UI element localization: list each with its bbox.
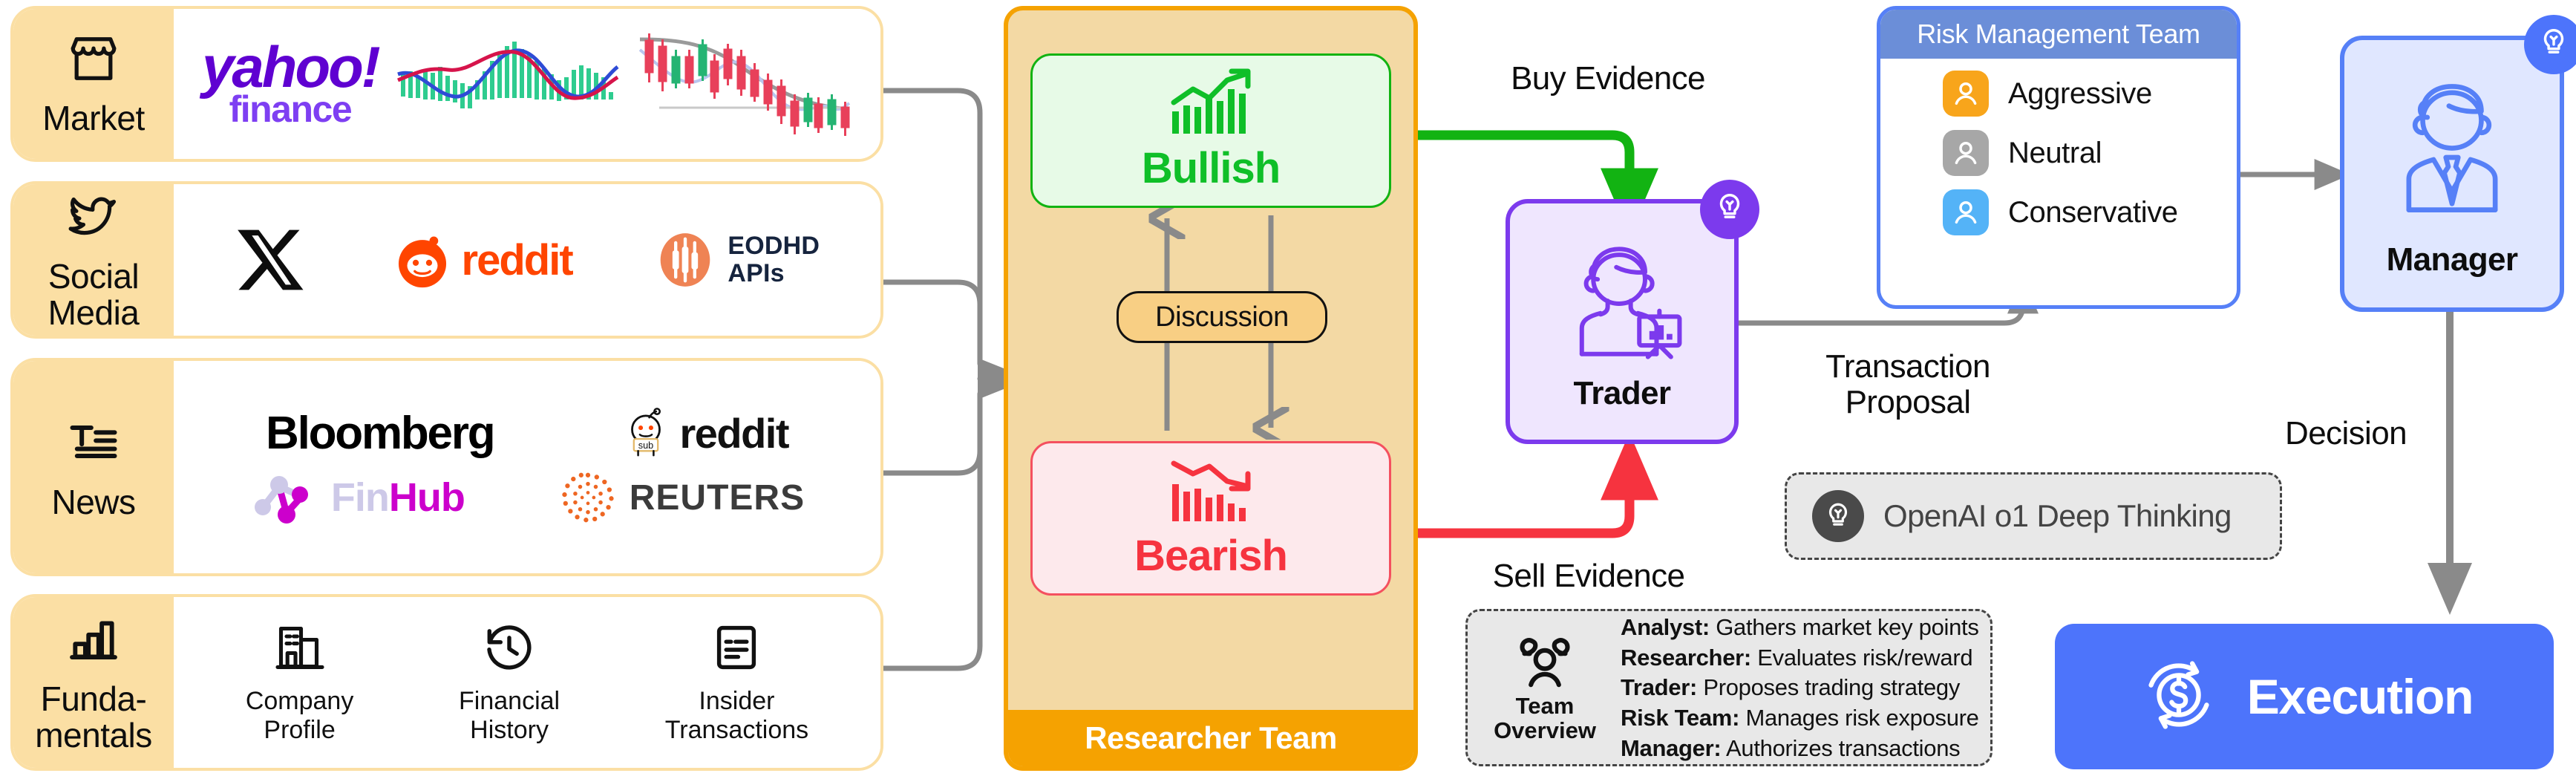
bearish-card[interactable]: Bearish bbox=[1030, 441, 1391, 596]
bloomberg-logo-text: Bloomberg bbox=[266, 407, 494, 460]
team-overview-desc: Manages risk exposure bbox=[1745, 705, 1978, 731]
source-label-news-text: News bbox=[51, 484, 135, 520]
buy-evidence-label: Buy Evidence bbox=[1445, 61, 1771, 97]
discussion-pill[interactable]: Discussion bbox=[1117, 291, 1327, 343]
source-row-social-media[interactable]: Social Media bbox=[10, 181, 883, 339]
source-label-market: Market bbox=[13, 9, 174, 159]
bullish-card[interactable]: Bullish bbox=[1030, 53, 1391, 208]
reddit-logo-text: reddit bbox=[462, 235, 572, 285]
manager-label: Manager bbox=[2387, 241, 2518, 278]
finhub-logo-text-hub: Hub bbox=[389, 475, 465, 520]
bloomberg-logo[interactable]: Bloomberg bbox=[266, 407, 494, 460]
bullish-label: Bullish bbox=[1142, 143, 1280, 193]
transaction-proposal-label: Transaction Proposal bbox=[1774, 349, 2041, 420]
researcher-team-footer: Researcher Team bbox=[1008, 710, 1413, 766]
team-overview-role: Researcher: bbox=[1621, 645, 1751, 671]
history-clock-icon bbox=[483, 621, 536, 678]
risk-member-aggressive[interactable]: Aggressive bbox=[1943, 71, 2237, 117]
candlestick-chart[interactable] bbox=[637, 25, 852, 143]
risk-member-aggressive-label: Aggressive bbox=[2008, 77, 2152, 111]
yahoo-finance-logo[interactable]: yahoo! finance bbox=[202, 43, 379, 125]
team-overview-role: Trader: bbox=[1621, 674, 1697, 700]
building-icon bbox=[273, 621, 327, 678]
finhub-logo[interactable]: FinHub bbox=[249, 467, 465, 528]
team-overview-row: Manager: Authorizes transactions bbox=[1621, 734, 1979, 763]
team-overview-desc: Gathers market key points bbox=[1716, 614, 1978, 640]
team-overview-desc: Authorizes transactions bbox=[1726, 735, 1960, 761]
financial-history-caption: Financial History bbox=[459, 687, 560, 743]
reuters-logo-text: REUTERS bbox=[630, 477, 805, 518]
yahoo-finance-logo-line2: finance bbox=[229, 94, 352, 125]
trending-up-bars-icon bbox=[1168, 68, 1254, 140]
document-icon bbox=[710, 621, 763, 678]
team-overview-row: Risk Team: Manages risk exposure bbox=[1621, 703, 1979, 733]
risk-member-neutral-label: Neutral bbox=[2008, 137, 2102, 170]
team-overview-role: Analyst: bbox=[1621, 614, 1710, 640]
execution-node[interactable]: Execution bbox=[2055, 624, 2554, 769]
subreddit-logo-text: reddit bbox=[679, 409, 788, 457]
researcher-team-panel[interactable]: Bullish Discussion bbox=[1004, 6, 1418, 771]
x-twitter-logo[interactable] bbox=[235, 223, 309, 297]
people-group-icon bbox=[1512, 633, 1578, 693]
lightbulb-icon bbox=[2537, 26, 2571, 64]
source-label-social-media: Social Media bbox=[13, 184, 174, 336]
team-overview-row: Trader: Proposes trading strategy bbox=[1621, 673, 1979, 702]
risk-management-team-title-bar: Risk Management Team bbox=[1880, 10, 2237, 59]
source-label-fundamentals-text: Funda- mentals bbox=[35, 681, 152, 753]
risk-member-conservative-label: Conservative bbox=[2008, 196, 2178, 229]
risk-member-neutral[interactable]: Neutral bbox=[1943, 130, 2237, 176]
manager-lightbulb-badge[interactable] bbox=[2524, 15, 2576, 74]
trending-down-bars-icon bbox=[1168, 456, 1254, 528]
dollar-refresh-icon bbox=[2136, 652, 2222, 742]
yahoo-finance-logo-line1: yahoo! bbox=[202, 43, 379, 92]
eodhd-apis-logo-line2: APIs bbox=[728, 260, 820, 287]
article-icon bbox=[65, 414, 122, 474]
trader-label: Trader bbox=[1574, 375, 1671, 412]
risk-management-team-box[interactable]: Risk Management Team Aggressive Neutral … bbox=[1877, 6, 2240, 309]
person-icon bbox=[1943, 71, 1989, 117]
lightbulb-icon bbox=[1812, 490, 1864, 542]
source-label-news: News bbox=[13, 361, 174, 573]
trader-node[interactable]: Trader bbox=[1506, 199, 1739, 444]
discussion-label: Discussion bbox=[1155, 301, 1289, 333]
openai-deep-thinking-badge[interactable]: OpenAI o1 Deep Thinking bbox=[1785, 472, 2282, 560]
team-overview-desc: Proposes trading strategy bbox=[1703, 674, 1960, 700]
risk-member-conservative[interactable]: Conservative bbox=[1943, 189, 2237, 235]
source-row-news[interactable]: News Bloomberg bbox=[10, 358, 883, 576]
team-overview-role: Manager: bbox=[1621, 735, 1721, 761]
diagram-canvas: Market yahoo! finance bbox=[0, 0, 2576, 776]
person-icon bbox=[1943, 189, 1989, 235]
team-overview-row: Analyst: Gathers market key points bbox=[1621, 613, 1979, 642]
source-label-fundamentals: Funda- mentals bbox=[13, 597, 174, 768]
sell-evidence-label: Sell Evidence bbox=[1440, 558, 1737, 594]
finhub-logo-text-fin: Fin bbox=[331, 475, 389, 520]
team-overview-panel[interactable]: Team Overview Analyst: Gathers market ke… bbox=[1465, 609, 1993, 766]
insider-transactions-caption: Insider Transactions bbox=[665, 687, 808, 743]
storefront-icon bbox=[66, 31, 121, 90]
source-label-social-media-text: Social Media bbox=[48, 258, 140, 330]
svg-text:sub: sub bbox=[638, 440, 653, 451]
team-overview-desc: Evaluates risk/reward bbox=[1757, 645, 1972, 671]
macd-histogram-chart[interactable] bbox=[396, 28, 619, 140]
trader-avatar-icon bbox=[1549, 236, 1695, 375]
eodhd-apis-logo[interactable]: EODHD APIs bbox=[655, 229, 820, 290]
bird-icon bbox=[66, 189, 121, 248]
source-label-market-text: Market bbox=[42, 100, 145, 136]
person-icon bbox=[1943, 130, 1989, 176]
company-profile-item[interactable]: Company Profile bbox=[246, 621, 354, 743]
openai-deep-thinking-label: OpenAI o1 Deep Thinking bbox=[1883, 498, 2232, 534]
eodhd-apis-logo-line1: EODHD bbox=[728, 232, 820, 260]
decision-label: Decision bbox=[2235, 416, 2457, 451]
risk-management-team-title: Risk Management Team bbox=[1917, 19, 2200, 50]
team-overview-title: Team Overview bbox=[1494, 694, 1596, 743]
researcher-team-label: Researcher Team bbox=[1085, 720, 1337, 756]
execution-label: Execution bbox=[2247, 668, 2474, 725]
insider-transactions-item[interactable]: Insider Transactions bbox=[665, 621, 808, 743]
lightbulb-icon bbox=[1713, 191, 1747, 229]
manager-avatar-icon bbox=[2375, 77, 2529, 241]
bar-chart-icon bbox=[66, 612, 121, 671]
subreddit-logo[interactable]: sub reddit bbox=[618, 405, 788, 460]
source-row-fundamentals[interactable]: Funda- mentals Company Profile bbox=[10, 594, 883, 771]
reuters-logo[interactable]: REUTERS bbox=[557, 466, 805, 529]
team-overview-role: Risk Team: bbox=[1621, 705, 1739, 731]
team-overview-row: Researcher: Evaluates risk/reward bbox=[1621, 643, 1979, 673]
company-profile-caption: Company Profile bbox=[246, 687, 354, 743]
manager-node[interactable]: Manager bbox=[2340, 36, 2564, 312]
financial-history-item[interactable]: Financial History bbox=[459, 621, 560, 743]
source-row-market[interactable]: Market yahoo! finance bbox=[10, 6, 883, 162]
trader-lightbulb-badge[interactable] bbox=[1700, 180, 1759, 239]
reddit-logo[interactable]: reddit bbox=[392, 229, 572, 290]
bearish-label: Bearish bbox=[1134, 531, 1287, 581]
